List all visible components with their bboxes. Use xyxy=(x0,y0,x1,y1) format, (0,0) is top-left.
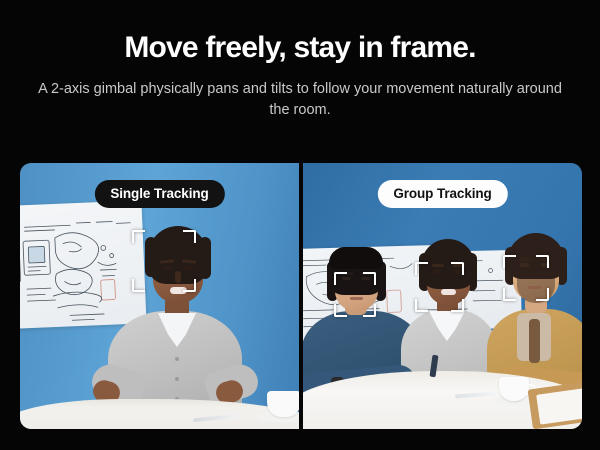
subject-man3-eye-right xyxy=(541,263,550,267)
subject-man1-eye-left xyxy=(342,277,351,280)
subject-woman2-hair xyxy=(421,239,475,289)
subject-woman2-eye-left xyxy=(433,270,442,274)
subject-woman2-brow-left xyxy=(432,264,444,267)
subject-man3-mouth xyxy=(528,286,542,289)
subject-woman2-eye-right xyxy=(454,270,463,274)
subject-woman-button-1 xyxy=(175,357,179,361)
subject-woman2-mouth xyxy=(441,289,456,295)
clipboard-paper-right xyxy=(536,387,582,424)
subject-woman-button-2 xyxy=(175,377,179,381)
panel-single-tracking[interactable]: Single Tracking xyxy=(20,163,299,429)
subject-woman-eye-left xyxy=(162,266,172,270)
subject-man3-brow-left xyxy=(519,258,531,261)
header-block: Move freely, stay in frame. A 2-axis gim… xyxy=(0,0,600,121)
page-title: Move freely, stay in frame. xyxy=(0,31,600,66)
comparison-panels: Single Tracking xyxy=(20,163,582,429)
whiteboard-left xyxy=(20,200,147,328)
subject-woman-nose xyxy=(175,271,181,283)
subject-man3-brow-right xyxy=(540,258,552,261)
subject-man1-brow-left xyxy=(341,272,353,275)
subject-man1-mouth xyxy=(350,297,363,300)
panel-group-tracking[interactable]: Group Tracking xyxy=(303,163,582,429)
subject-woman2-brow-right xyxy=(453,264,465,267)
subject-woman-mouth xyxy=(170,287,187,294)
subject-woman-eye-right xyxy=(184,266,194,270)
page-subtitle: A 2-axis gimbal physically pans and tilt… xyxy=(0,79,600,121)
whiteboard-sketch-icon xyxy=(20,200,147,328)
subject-man1-fringe xyxy=(329,247,383,269)
badge-single-tracking[interactable]: Single Tracking xyxy=(94,180,224,208)
coffee-cup-left xyxy=(267,391,299,417)
subject-man1-eye-right xyxy=(361,277,370,280)
promo-page: Move freely, stay in frame. A 2-axis gim… xyxy=(0,0,600,450)
badge-group-tracking[interactable]: Group Tracking xyxy=(377,180,507,208)
subject-man3-eye-left xyxy=(520,263,529,267)
subject-man1-brow-right xyxy=(360,272,372,275)
subject-man3-tie xyxy=(529,319,540,363)
